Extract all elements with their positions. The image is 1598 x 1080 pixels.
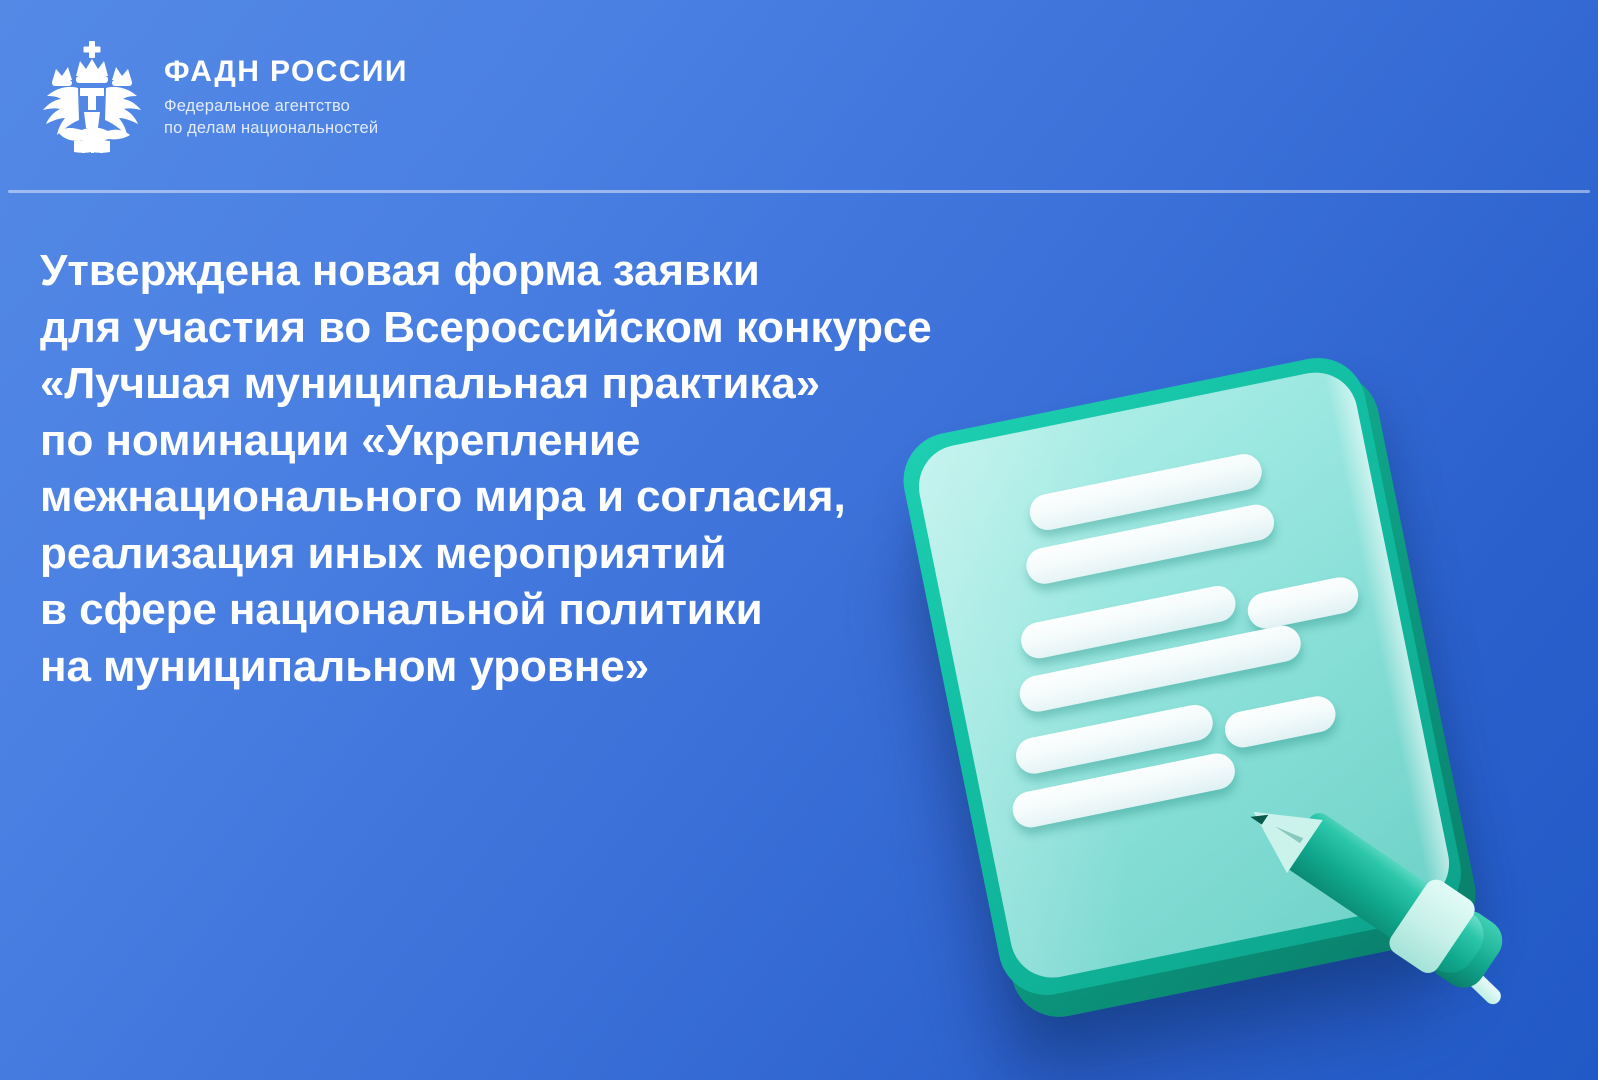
headline-line: Утверждена новая форма заявки — [40, 243, 1100, 300]
header-divider — [8, 190, 1590, 193]
headline-line: для участия во Всероссийском конкурсе — [40, 300, 1100, 357]
brand-lockup: ФАДН РОССИИ Федеральное агентство по дел… — [38, 36, 408, 154]
document-with-pen-illustration — [905, 350, 1565, 1010]
brand-text-block: ФАДН РОССИИ Федеральное агентство по дел… — [164, 51, 408, 140]
poster-canvas: ФАДН РОССИИ Федеральное агентство по дел… — [0, 0, 1598, 1080]
brand-subtitle-line-1: Федеральное агентство — [164, 96, 408, 118]
brand-subtitle-line-2: по делам национальностей — [164, 118, 408, 140]
brand-title: ФАДН РОССИИ — [164, 55, 408, 88]
double-headed-eagle-emblem-icon — [38, 36, 146, 154]
brand-subtitle: Федеральное агентство по делам националь… — [164, 96, 408, 140]
document-text-bar — [1245, 574, 1362, 632]
header: ФАДН РОССИИ Федеральное агентство по дел… — [0, 0, 1598, 192]
